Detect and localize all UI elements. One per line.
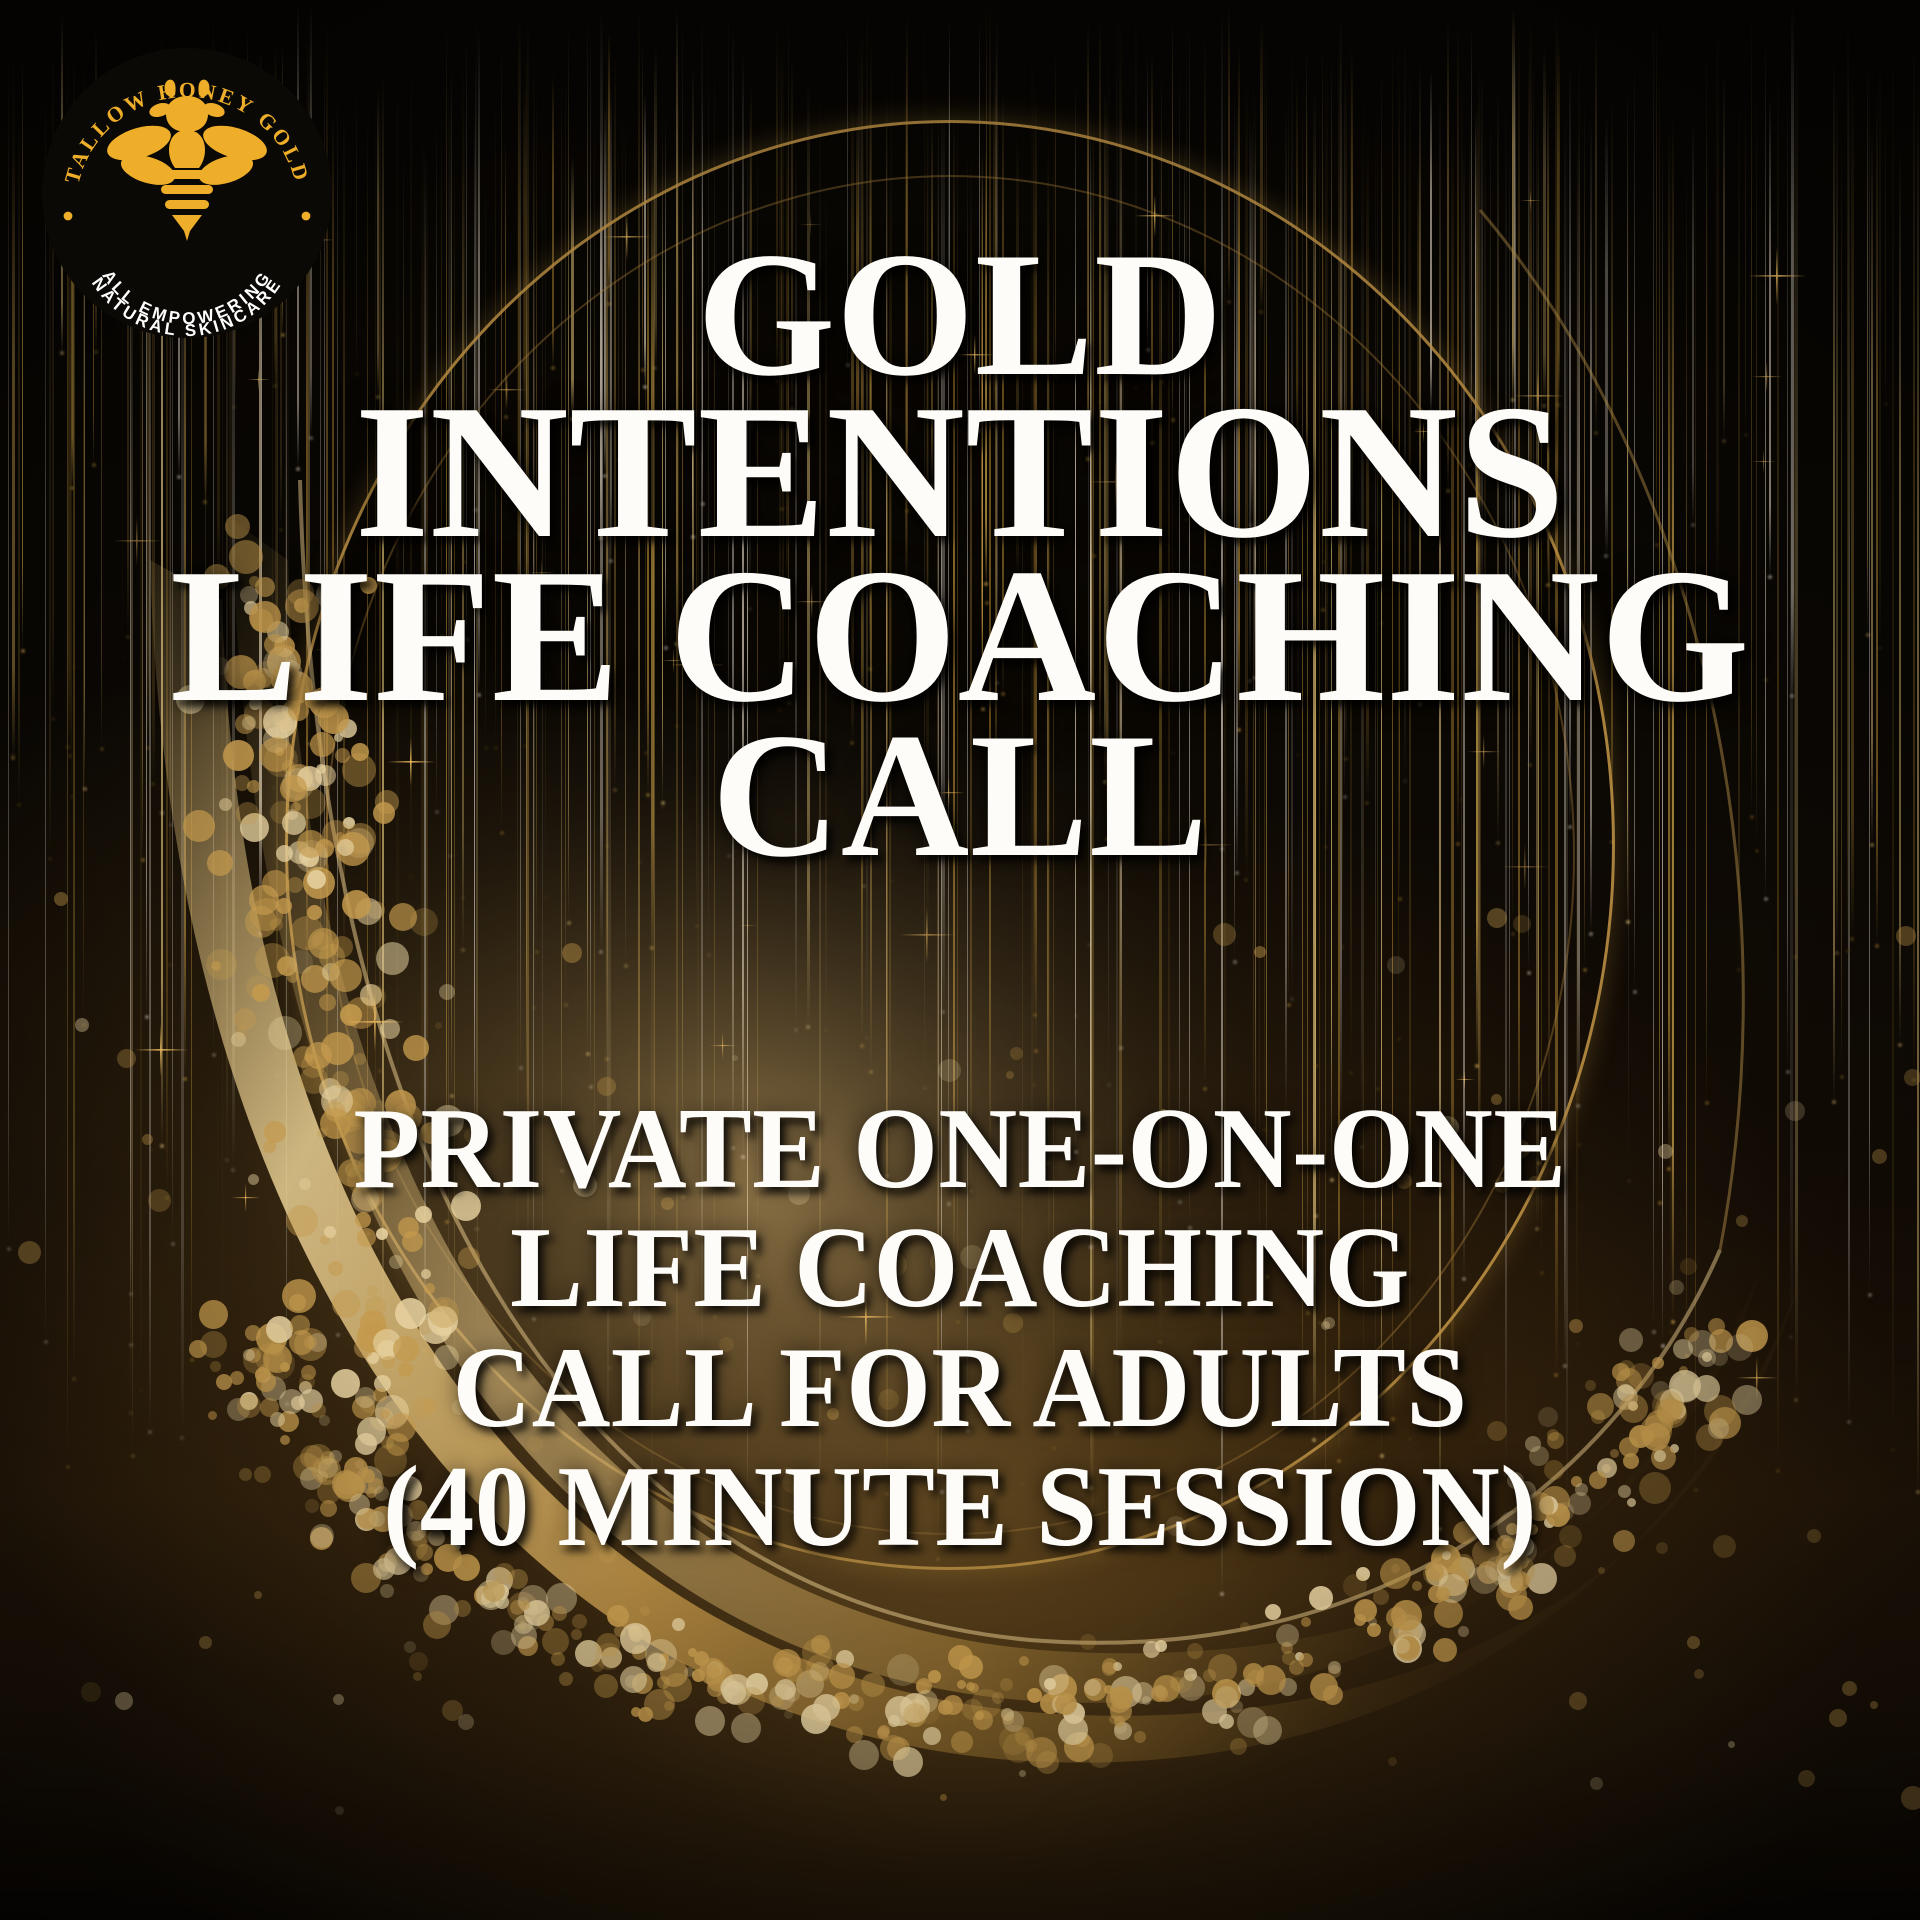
logo-dot-left xyxy=(64,212,73,221)
headline-line-3: LIFE COACHING xyxy=(40,554,1880,718)
subheadline-line-3: CALL FOR ADULTS xyxy=(86,1329,1834,1448)
headline: GOLD INTENTIONS LIFE COACHING CALL xyxy=(0,238,1920,871)
promo-graphic: TALLOW HONEY GOLD ALL EMPOWERING NATURAL… xyxy=(0,0,1920,1920)
subheadline-line-4: (40 MINUTE SESSION) xyxy=(86,1448,1834,1567)
subheadline: PRIVATE ONE-ON-ONE LIFE COACHING CALL FO… xyxy=(0,1090,1920,1568)
subheadline-line-1: PRIVATE ONE-ON-ONE xyxy=(86,1090,1834,1209)
logo-dot-right xyxy=(302,212,311,221)
subheadline-line-2: LIFE COACHING xyxy=(86,1209,1834,1328)
